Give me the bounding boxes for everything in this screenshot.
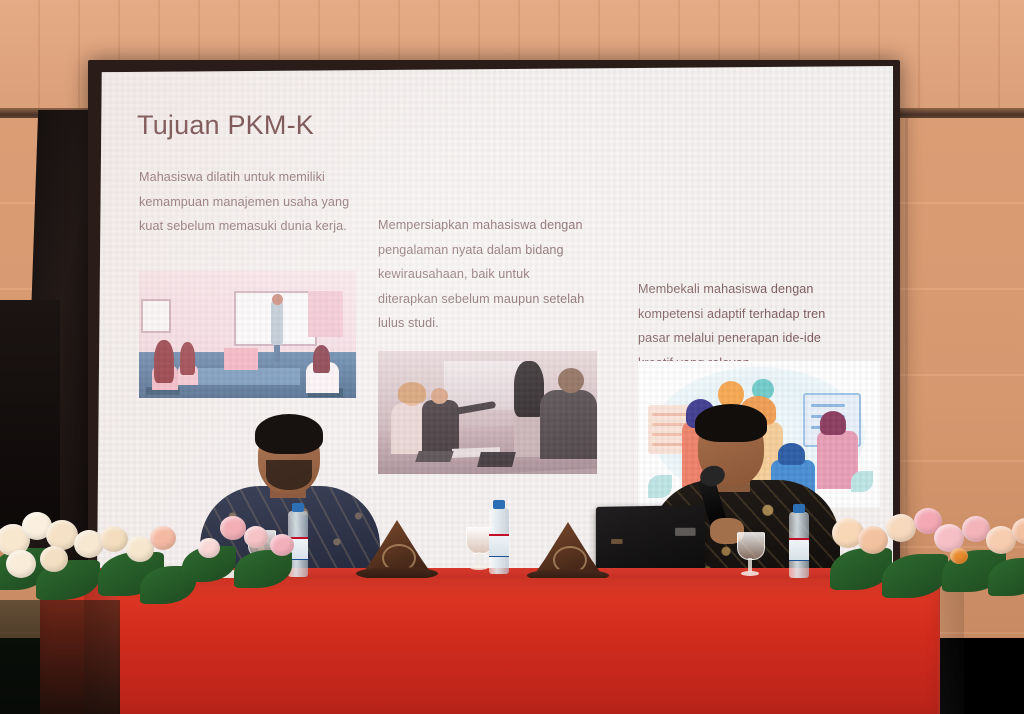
water-bottle: [789, 512, 809, 578]
slide-text-block-1: Mahasiswa dilatih untuk memiliki kemampu…: [139, 165, 369, 239]
seminar-room-scene: Tujuan PKM-K Mahasiswa dilatih untuk mem…: [0, 0, 1024, 714]
tumpeng-centerpiece: [527, 522, 609, 582]
flower-arrangement-center: [170, 500, 320, 590]
water-bottle: [489, 508, 509, 574]
flower-arrangement-left: [0, 496, 190, 606]
business-meeting-photo: [378, 351, 597, 474]
wine-glass: [737, 532, 763, 578]
flower-arrangement-right: [830, 492, 1024, 606]
slide-text-block-2: Mempersiapkan mahasiswa dengan pengalama…: [378, 213, 590, 336]
slide-title: Tujuan PKM-K: [137, 110, 314, 141]
classroom-illustration: [139, 271, 356, 398]
foreground-shadow: [0, 600, 120, 714]
tumpeng-centerpiece: [356, 520, 438, 580]
